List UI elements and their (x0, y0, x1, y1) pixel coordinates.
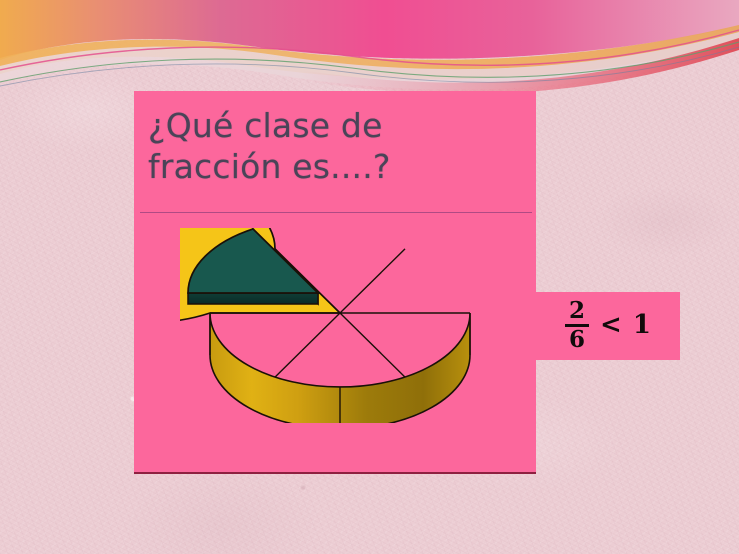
fraction-callout: 2 6 < 1 (536, 292, 680, 360)
relation-right-operand: 1 (633, 310, 651, 340)
relation-operator: < (600, 310, 622, 340)
fraction-numerator: 2 (569, 299, 585, 323)
pie-slice-teal-side-b (188, 293, 318, 304)
slide-canvas: ¿Qué clase de fracción es....? (0, 0, 739, 554)
content-panel: ¿Qué clase de fracción es....? (134, 91, 536, 474)
pie-slice-line-240 (275, 313, 340, 377)
pie-slice-line-60 (340, 249, 405, 313)
pie-slice-line-300 (340, 313, 405, 377)
fraction-denominator: 6 (569, 328, 585, 352)
pie-chart-svg (180, 228, 510, 423)
page-title: ¿Qué clase de fracción es....? (148, 105, 520, 187)
decorative-swoosh (0, 0, 739, 100)
pie-chart (180, 228, 510, 423)
fraction-value: 2 6 (565, 299, 589, 352)
title-divider (140, 212, 532, 213)
